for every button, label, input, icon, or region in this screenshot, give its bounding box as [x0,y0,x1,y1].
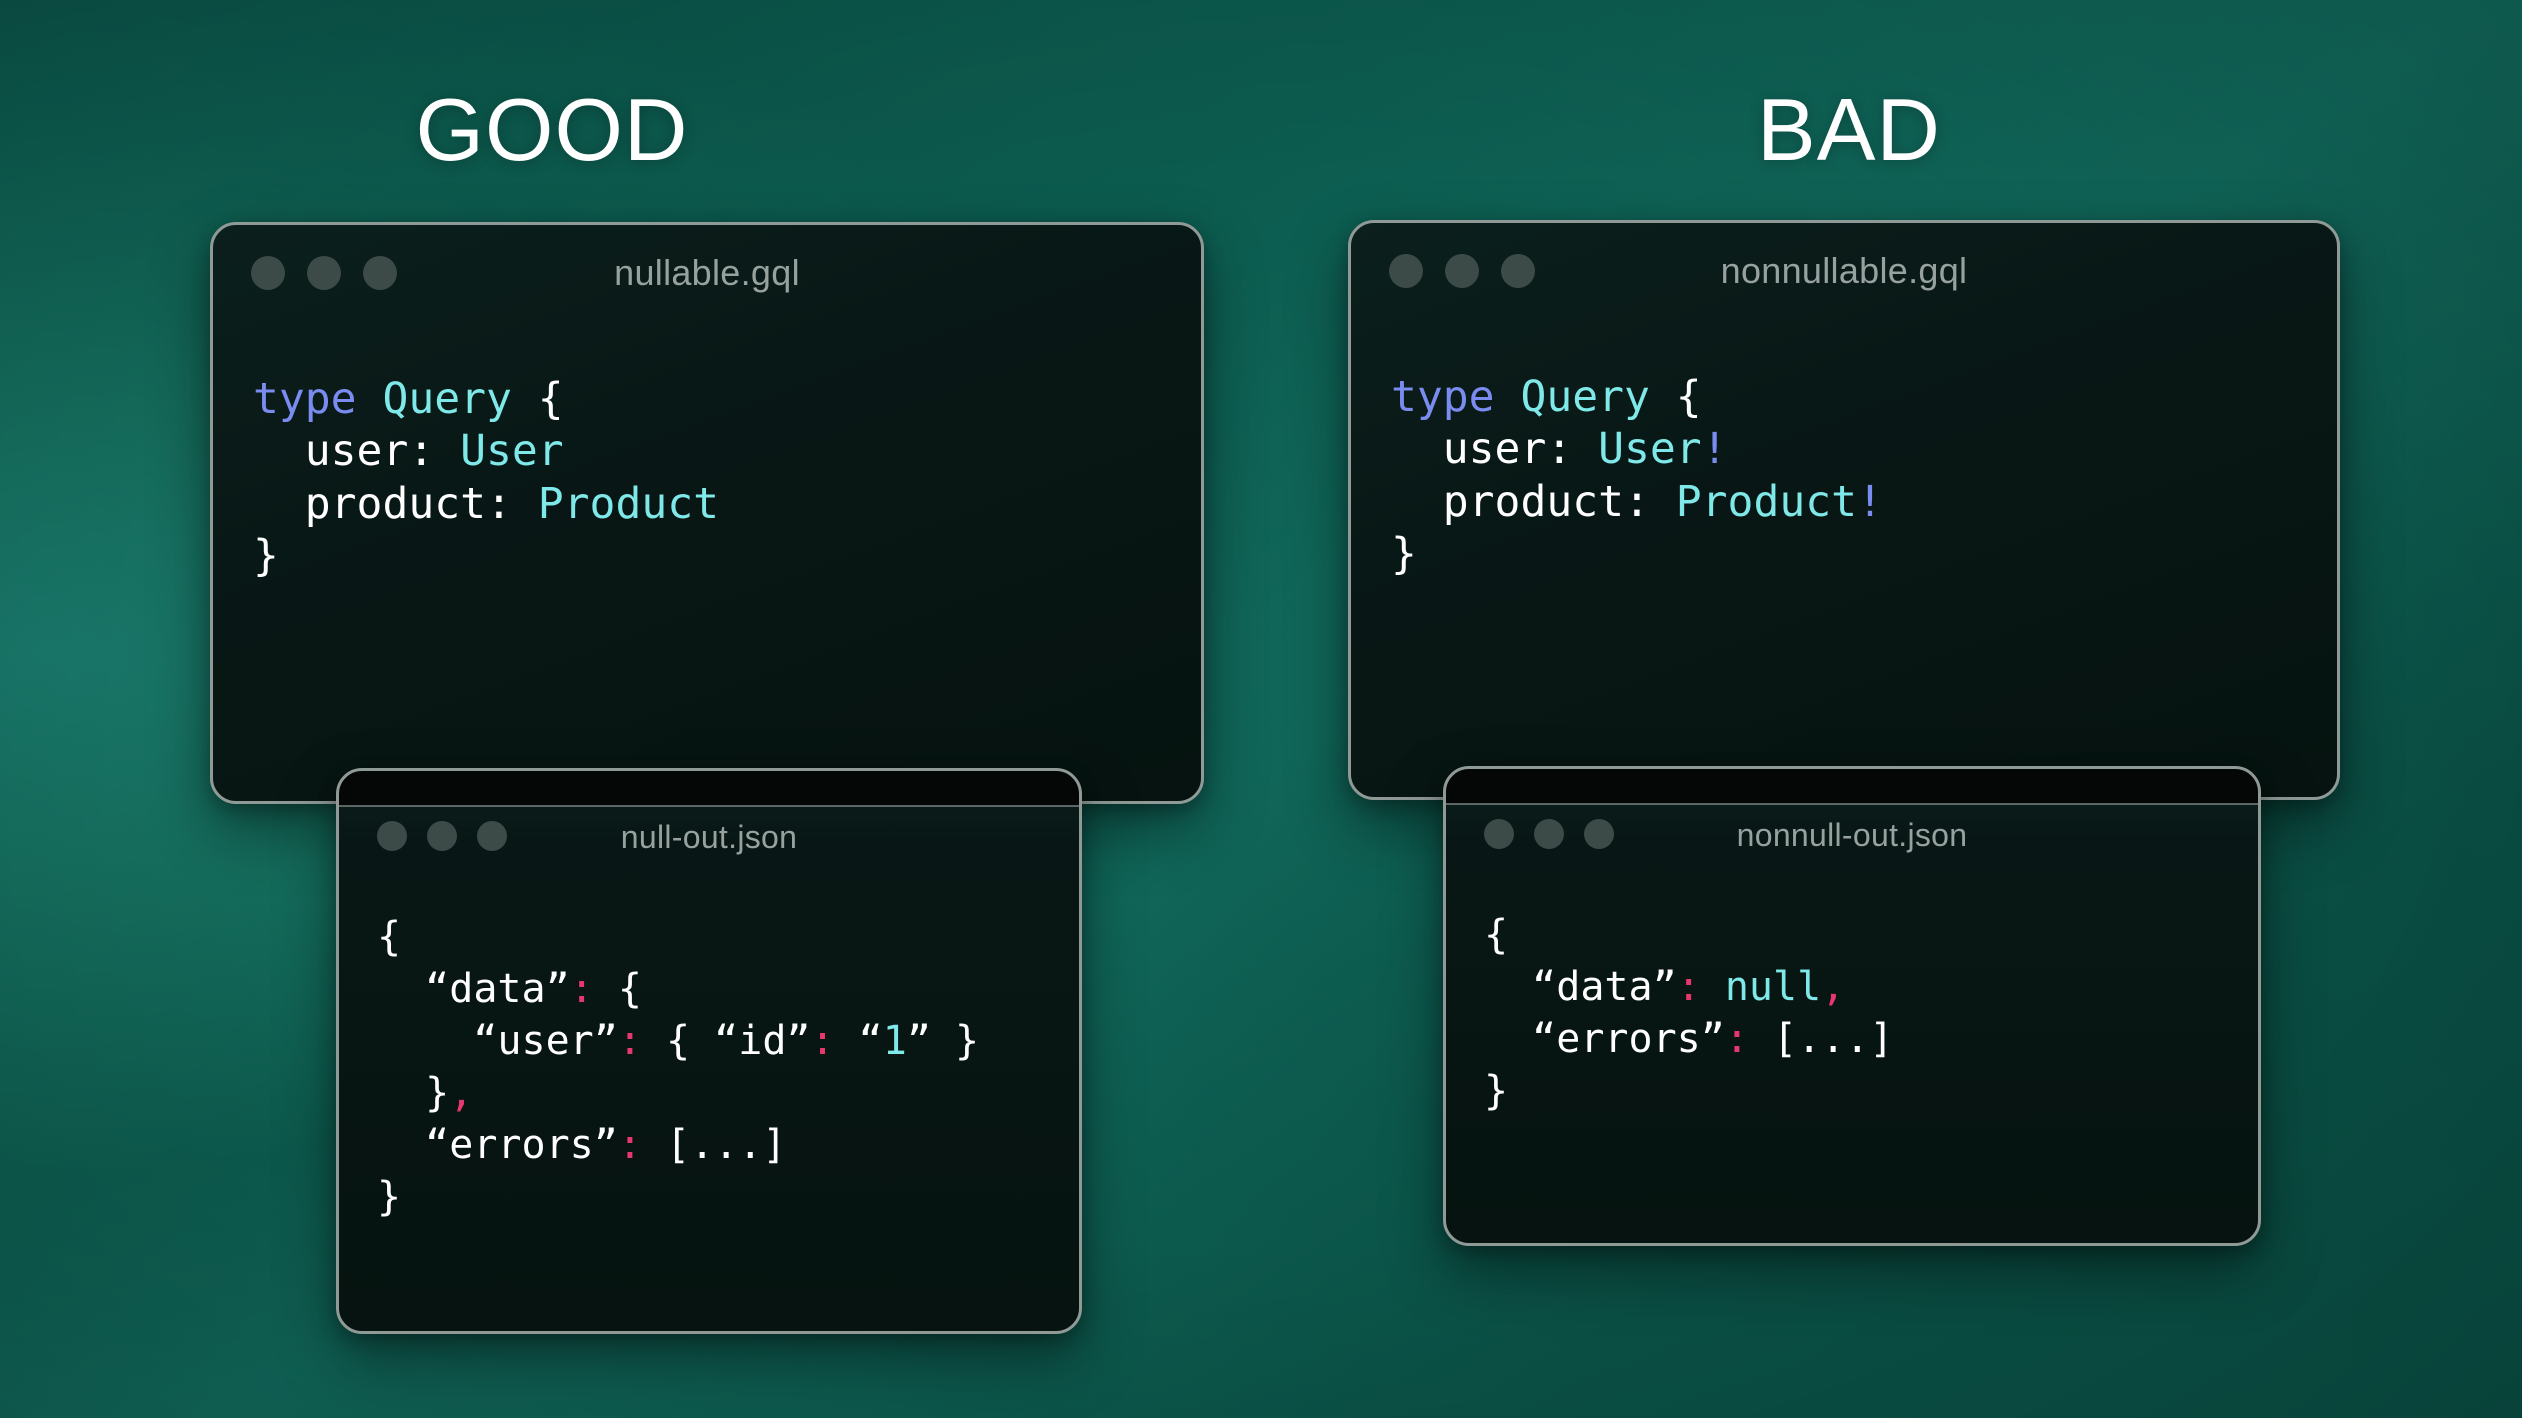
code-token-str: “ [835,1018,883,1064]
code-line: } [377,1171,1079,1223]
code-token-str: “data” [1484,964,1677,1010]
code-line: { [377,911,1079,963]
zoom-button-icon[interactable] [363,256,397,290]
code-line: }, [377,1067,1079,1119]
code-token-punc: } [931,1018,979,1064]
code-window-nonnullable-gql[interactable]: nonnullable.gql type Query { user: User!… [1348,220,2340,800]
code-line: “user”: { “id”: “1” } [377,1015,1079,1067]
minimize-button-icon[interactable] [1445,254,1479,288]
code-token-key: type [1391,372,1495,422]
code-token-type: Product [1676,477,1857,527]
code-line: { [1484,909,2258,961]
code-token-plain: product: [253,479,538,529]
code-token-punc: } [1484,1068,1508,1114]
minimize-button-icon[interactable] [427,821,457,851]
code-token-colon: : [811,1018,835,1064]
code-token-type: User [1598,424,1702,474]
code-token-colon: , [1821,964,1845,1010]
code-token-plain [512,374,538,424]
minimize-button-icon[interactable] [307,256,341,290]
code-token-str: ” [907,1018,931,1064]
code-block: { “data”: null, “errors”: [...]} [1446,865,2258,1117]
code-block: { “data”: { “user”: { “id”: “1” } }, “er… [339,867,1079,1223]
window-filename: nullable.gql [614,252,800,294]
window-titlebar: nullable.gql [213,225,1201,321]
close-button-icon[interactable] [251,256,285,290]
code-token-punc: } [377,1174,401,1220]
code-token-type: Query [382,374,511,424]
code-token-key: ! [1857,477,1883,527]
code-token-punc: { [1676,372,1702,422]
zoom-button-icon[interactable] [1501,254,1535,288]
code-line: } [253,530,1201,582]
code-token-punc: { [377,914,401,960]
code-token-plain: product: [1391,477,1676,527]
zoom-button-icon[interactable] [1584,819,1614,849]
minimize-button-icon[interactable] [1534,819,1564,849]
code-token-punc: { [594,966,642,1012]
code-line: user: User! [1391,423,2337,475]
window-controls [377,821,507,851]
code-token-colon: : [570,966,594,1012]
code-line: user: User [253,425,1201,477]
code-token-punc: } [253,531,279,581]
window-filename: null-out.json [621,819,797,856]
zoom-button-icon[interactable] [477,821,507,851]
code-token-plain [1701,964,1725,1010]
code-block: type Query { user: User! product: Produc… [1351,319,2337,581]
code-token-str: “user” [377,1018,618,1064]
window-titlebar: null-out.json [339,771,1079,867]
code-window-null-out-json[interactable]: null-out.json { “data”: { “user”: { “id”… [336,768,1082,1334]
code-token-punc: [...] [1749,1016,1894,1062]
code-block: type Query { user: User product: Product… [213,321,1201,583]
close-button-icon[interactable] [1389,254,1423,288]
code-line: “errors”: [...] [377,1119,1079,1171]
code-token-colon: : [618,1018,642,1064]
code-token-type: User [460,426,564,476]
code-line: } [1484,1065,2258,1117]
code-token-plain: user: [253,426,460,476]
code-line: product: Product! [1391,476,2337,528]
code-line: “errors”: [...] [1484,1013,2258,1065]
code-token-str: “data” [377,966,570,1012]
window-controls [251,256,397,290]
window-filename: nonnull-out.json [1737,817,1968,854]
code-line: product: Product [253,478,1201,530]
code-line: type Query { [253,373,1201,425]
code-token-punc: [...] [642,1122,787,1168]
code-token-plain [357,374,383,424]
code-token-punc: } [377,1070,449,1116]
code-token-str: “id” [714,1018,810,1064]
code-token-colon: : [1677,964,1701,1010]
close-button-icon[interactable] [1484,819,1514,849]
window-filename: nonnullable.gql [1721,250,1968,292]
code-line: “data”: null, [1484,961,2258,1013]
code-token-colon: , [449,1070,473,1116]
code-line: “data”: { [377,963,1079,1015]
code-token-colon: : [618,1122,642,1168]
window-controls [1484,819,1614,849]
code-token-plain [1495,372,1521,422]
code-token-str: “errors” [377,1122,618,1168]
code-token-str: “errors” [1484,1016,1725,1062]
column-heading-bad: BAD [1757,86,1941,174]
close-button-icon[interactable] [377,821,407,851]
column-heading-good: GOOD [416,86,689,174]
code-token-plain [1650,372,1676,422]
code-token-key: type [253,374,357,424]
code-token-punc: { [642,1018,714,1064]
code-token-plain: user: [1391,424,1598,474]
code-token-punc: } [1391,529,1417,579]
code-line: } [1391,528,2337,580]
code-window-nullable-gql[interactable]: nullable.gql type Query { user: User pro… [210,222,1204,804]
window-titlebar: nonnull-out.json [1446,769,2258,865]
code-token-colon: : [1725,1016,1749,1062]
code-token-punc: { [538,374,564,424]
code-token-key: ! [1702,424,1728,474]
code-token-val: 1 [883,1018,907,1064]
code-token-punc: { [1484,912,1508,958]
window-titlebar: nonnullable.gql [1351,223,2337,319]
window-controls [1389,254,1535,288]
code-line: type Query { [1391,371,2337,423]
code-token-type: Query [1520,372,1649,422]
code-token-val: null [1725,964,1821,1010]
code-token-type: Product [538,479,719,529]
code-window-nonnull-out-json[interactable]: nonnull-out.json { “data”: null, “errors… [1443,766,2261,1246]
